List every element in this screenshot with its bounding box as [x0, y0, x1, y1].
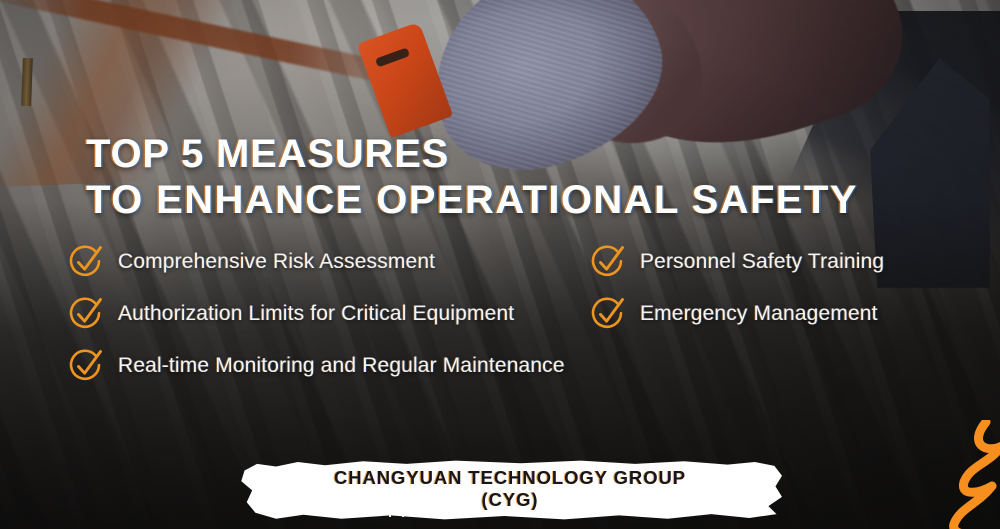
check-circle-icon — [588, 294, 628, 334]
list-item: Emergency Management — [588, 288, 948, 340]
list-item-label: Personnel Safety Training — [640, 250, 884, 274]
page-title: TOP 5 MEASURES TO ENHANCE OPERATIONAL SA… — [86, 131, 858, 223]
safety-poster: TOP 5 MEASURES TO ENHANCE OPERATIONAL SA… — [0, 0, 1000, 529]
checklist-column-right: Personnel Safety Training Emergency Mana… — [588, 236, 948, 340]
list-item-label: Authorization Limits for Critical Equipm… — [118, 302, 514, 326]
company-name-line-1: CHANGYUAN TECHNOLOGY GROUP — [334, 467, 686, 489]
check-circle-icon — [66, 294, 106, 334]
list-item-label: Comprehensive Risk Assessment — [118, 250, 435, 274]
headline-line-2: TO ENHANCE OPERATIONAL SAFETY — [86, 177, 858, 223]
company-name-line-2: (CYG) — [482, 489, 539, 511]
orange-zigzag-icon — [916, 420, 1000, 529]
list-item: Real-time Monitoring and Regular Mainten… — [66, 340, 586, 392]
check-circle-icon — [66, 346, 106, 386]
list-item: Personnel Safety Training — [588, 236, 948, 288]
check-circle-icon — [588, 242, 628, 282]
headline-line-1: TOP 5 MEASURES — [86, 131, 858, 177]
company-banner: CHANGYUAN TECHNOLOGY GROUP (CYG) — [238, 456, 782, 522]
list-item-label: Real-time Monitoring and Regular Mainten… — [118, 354, 565, 378]
list-item: Comprehensive Risk Assessment — [66, 236, 586, 288]
list-item-label: Emergency Management — [640, 302, 878, 326]
company-name: CHANGYUAN TECHNOLOGY GROUP (CYG) — [238, 456, 782, 522]
list-item: Authorization Limits for Critical Equipm… — [66, 288, 586, 340]
check-circle-icon — [66, 242, 106, 282]
checklist-column-left: Comprehensive Risk Assessment Authorizat… — [66, 236, 586, 392]
